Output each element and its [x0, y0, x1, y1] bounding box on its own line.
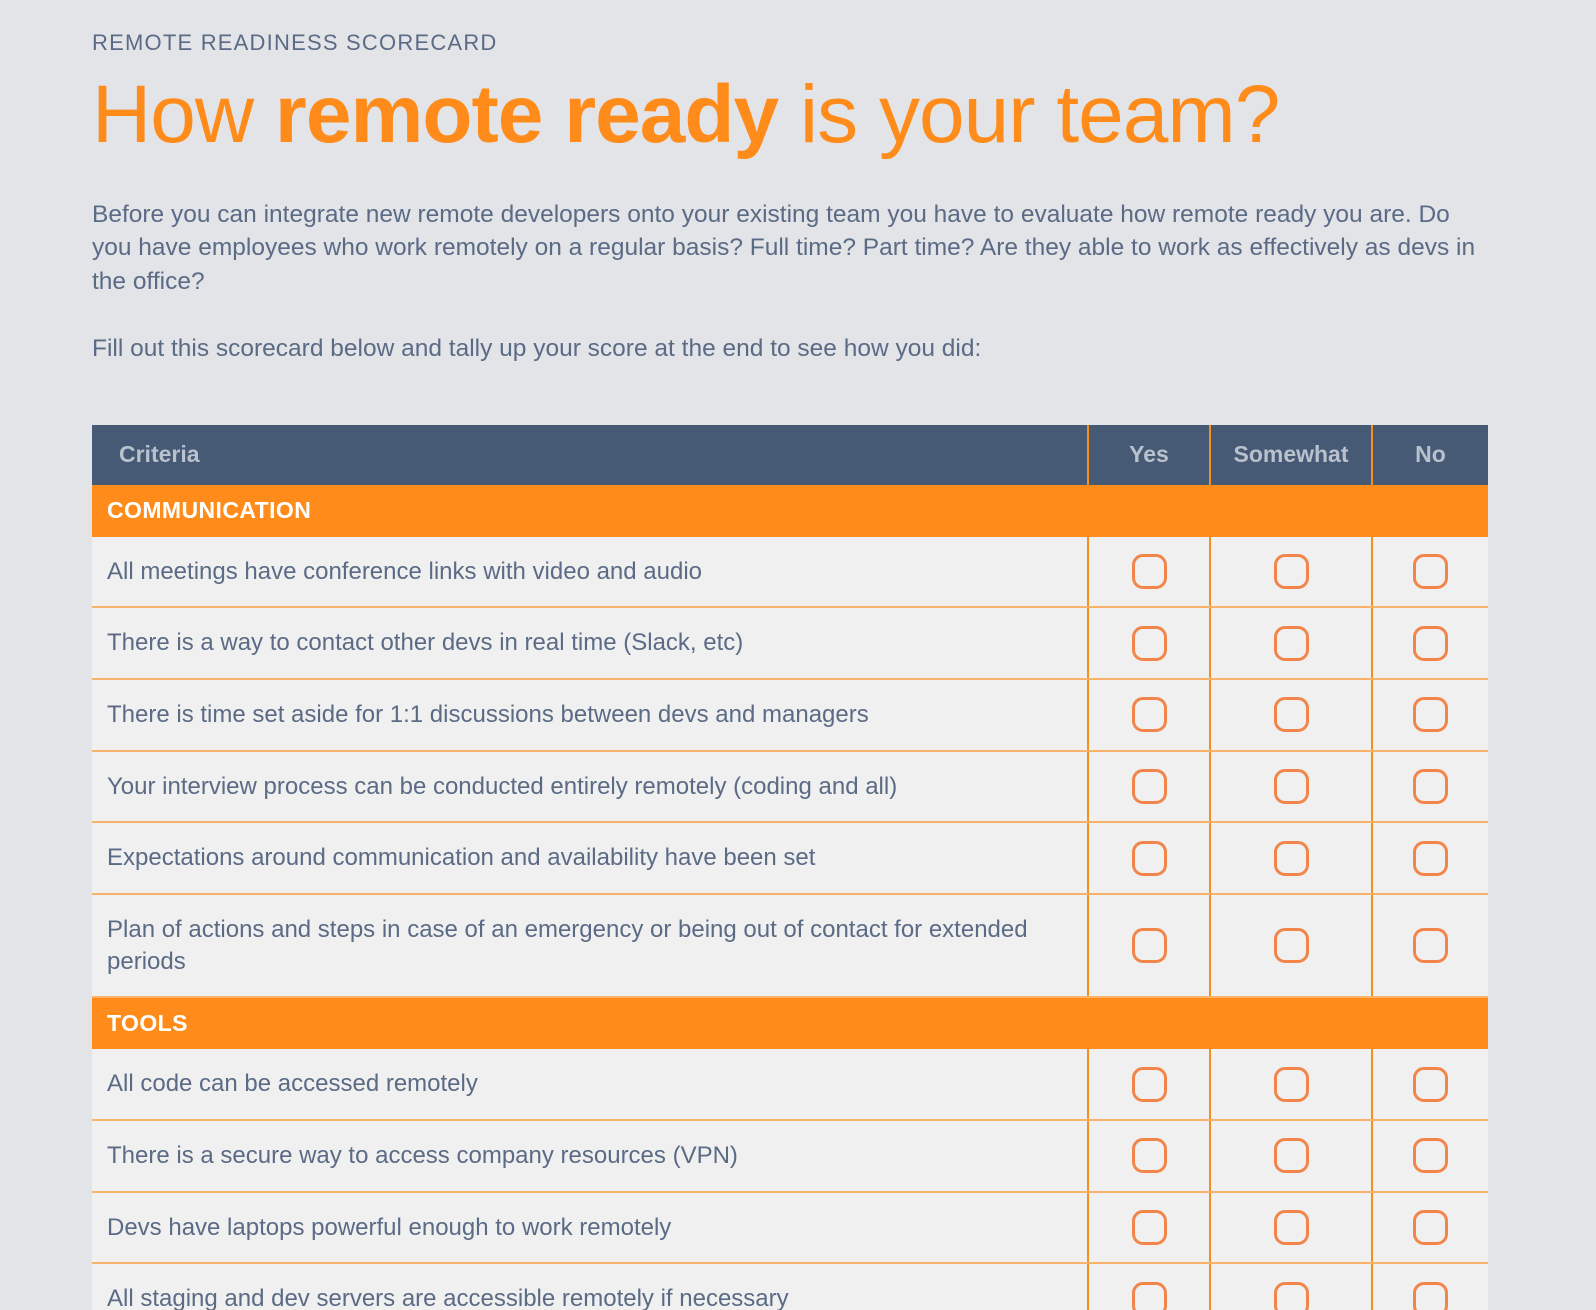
checkbox-cell-somewhat[interactable]	[1210, 1263, 1372, 1310]
criteria-label: Your interview process can be conducted …	[92, 751, 1088, 823]
checkbox-somewhat[interactable]	[1274, 1138, 1309, 1173]
criteria-label: All staging and dev servers are accessib…	[92, 1263, 1088, 1310]
checkbox-cell-yes[interactable]	[1088, 537, 1210, 608]
table-row: There is time set aside for 1:1 discussi…	[92, 679, 1488, 751]
checkbox-somewhat[interactable]	[1274, 1282, 1309, 1310]
checkbox-cell-no[interactable]	[1372, 607, 1488, 679]
table-row: All staging and dev servers are accessib…	[92, 1263, 1488, 1310]
criteria-label: All meetings have conference links with …	[92, 537, 1088, 608]
page-title: How remote ready is your team?	[92, 74, 1504, 156]
checkbox-no[interactable]	[1413, 626, 1448, 661]
eyebrow-label: REMOTE READINESS SCORECARD	[92, 0, 1504, 56]
section-title: COMMUNICATION	[92, 485, 1488, 537]
checkbox-somewhat[interactable]	[1274, 1210, 1309, 1245]
criteria-label: There is a secure way to access company …	[92, 1120, 1088, 1192]
section-header-row: COMMUNICATION	[92, 485, 1488, 537]
page-title-emphasis: remote ready	[275, 69, 778, 160]
instruction-paragraph: Fill out this scorecard below and tally …	[92, 332, 1504, 365]
checkbox-no[interactable]	[1413, 1210, 1448, 1245]
checkbox-yes[interactable]	[1132, 1210, 1167, 1245]
checkbox-no[interactable]	[1413, 928, 1448, 963]
table-row: Devs have laptops powerful enough to wor…	[92, 1192, 1488, 1264]
checkbox-cell-no[interactable]	[1372, 1263, 1488, 1310]
criteria-label: Devs have laptops powerful enough to wor…	[92, 1192, 1088, 1264]
scorecard-page: REMOTE READINESS SCORECARD How remote re…	[0, 0, 1596, 1310]
criteria-label: Plan of actions and steps in case of an …	[92, 894, 1088, 997]
checkbox-no[interactable]	[1413, 1067, 1448, 1102]
checkbox-cell-yes[interactable]	[1088, 679, 1210, 751]
checkbox-no[interactable]	[1413, 1138, 1448, 1173]
checkbox-cell-somewhat[interactable]	[1210, 607, 1372, 679]
checkbox-cell-no[interactable]	[1372, 894, 1488, 997]
checkbox-yes[interactable]	[1132, 1138, 1167, 1173]
section-header-row: TOOLS	[92, 997, 1488, 1049]
checkbox-somewhat[interactable]	[1274, 769, 1309, 804]
criteria-label: All code can be accessed remotely	[92, 1049, 1088, 1120]
checkbox-yes[interactable]	[1132, 1282, 1167, 1310]
checkbox-cell-no[interactable]	[1372, 1192, 1488, 1264]
checkbox-cell-yes[interactable]	[1088, 607, 1210, 679]
table-header: Criteria Yes Somewhat No	[92, 425, 1488, 485]
checkbox-cell-yes[interactable]	[1088, 894, 1210, 997]
checkbox-cell-somewhat[interactable]	[1210, 679, 1372, 751]
table-row: All meetings have conference links with …	[92, 537, 1488, 608]
checkbox-no[interactable]	[1413, 1282, 1448, 1310]
checkbox-yes[interactable]	[1132, 841, 1167, 876]
table-row: Your interview process can be conducted …	[92, 751, 1488, 823]
checkbox-cell-no[interactable]	[1372, 537, 1488, 608]
checkbox-yes[interactable]	[1132, 697, 1167, 732]
checkbox-yes[interactable]	[1132, 626, 1167, 661]
table-header-row: Criteria Yes Somewhat No	[92, 425, 1488, 485]
checkbox-cell-no[interactable]	[1372, 1120, 1488, 1192]
checkbox-no[interactable]	[1413, 841, 1448, 876]
checkbox-cell-somewhat[interactable]	[1210, 751, 1372, 823]
page-title-part1: How	[92, 69, 275, 160]
checkbox-no[interactable]	[1413, 554, 1448, 589]
checkbox-cell-yes[interactable]	[1088, 1192, 1210, 1264]
checkbox-yes[interactable]	[1132, 554, 1167, 589]
checkbox-cell-somewhat[interactable]	[1210, 1049, 1372, 1120]
checkbox-yes[interactable]	[1132, 1067, 1167, 1102]
scorecard-table: Criteria Yes Somewhat No COMMUNICATIONAl…	[92, 425, 1488, 1310]
checkbox-cell-yes[interactable]	[1088, 1049, 1210, 1120]
checkbox-cell-yes[interactable]	[1088, 751, 1210, 823]
table-row: There is a way to contact other devs in …	[92, 607, 1488, 679]
checkbox-somewhat[interactable]	[1274, 697, 1309, 732]
checkbox-cell-no[interactable]	[1372, 679, 1488, 751]
table-row: There is a secure way to access company …	[92, 1120, 1488, 1192]
checkbox-somewhat[interactable]	[1274, 928, 1309, 963]
table-row: All code can be accessed remotely	[92, 1049, 1488, 1120]
intro-paragraph: Before you can integrate new remote deve…	[92, 198, 1492, 297]
checkbox-cell-yes[interactable]	[1088, 822, 1210, 894]
checkbox-somewhat[interactable]	[1274, 841, 1309, 876]
checkbox-cell-no[interactable]	[1372, 1049, 1488, 1120]
section-title: TOOLS	[92, 997, 1488, 1049]
table-body: COMMUNICATIONAll meetings have conferenc…	[92, 485, 1488, 1310]
checkbox-cell-yes[interactable]	[1088, 1120, 1210, 1192]
column-header-somewhat: Somewhat	[1210, 425, 1372, 485]
page-title-part2: is your team?	[778, 69, 1279, 160]
checkbox-somewhat[interactable]	[1274, 554, 1309, 589]
checkbox-somewhat[interactable]	[1274, 626, 1309, 661]
checkbox-cell-no[interactable]	[1372, 822, 1488, 894]
checkbox-no[interactable]	[1413, 769, 1448, 804]
column-header-criteria: Criteria	[92, 425, 1088, 485]
checkbox-cell-somewhat[interactable]	[1210, 537, 1372, 608]
checkbox-cell-somewhat[interactable]	[1210, 894, 1372, 997]
checkbox-cell-yes[interactable]	[1088, 1263, 1210, 1310]
checkbox-cell-somewhat[interactable]	[1210, 1120, 1372, 1192]
criteria-label: There is a way to contact other devs in …	[92, 607, 1088, 679]
checkbox-cell-somewhat[interactable]	[1210, 822, 1372, 894]
checkbox-no[interactable]	[1413, 697, 1448, 732]
checkbox-yes[interactable]	[1132, 928, 1167, 963]
checkbox-yes[interactable]	[1132, 769, 1167, 804]
column-header-no: No	[1372, 425, 1488, 485]
column-header-yes: Yes	[1088, 425, 1210, 485]
checkbox-cell-somewhat[interactable]	[1210, 1192, 1372, 1264]
table-row: Plan of actions and steps in case of an …	[92, 894, 1488, 997]
criteria-label: There is time set aside for 1:1 discussi…	[92, 679, 1088, 751]
criteria-label: Expectations around communication and av…	[92, 822, 1088, 894]
checkbox-cell-no[interactable]	[1372, 751, 1488, 823]
checkbox-somewhat[interactable]	[1274, 1067, 1309, 1102]
table-row: Expectations around communication and av…	[92, 822, 1488, 894]
